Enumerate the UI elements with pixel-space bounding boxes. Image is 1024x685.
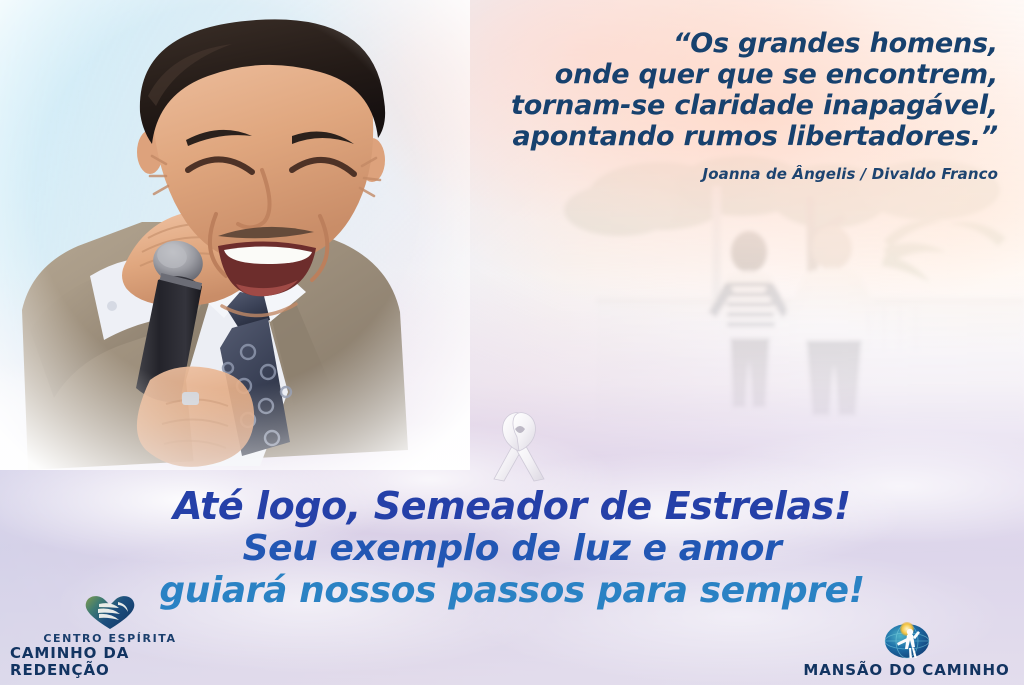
globe-figure-icon <box>880 620 934 660</box>
logo-mansao-do-caminho[interactable]: MANSÃO DO CAMINHO <box>799 620 1014 679</box>
quote-line-1: “Os grandes homens, <box>438 28 998 59</box>
quote-line-3: tornam-se claridade inapagável, <box>438 90 998 121</box>
headline-line-2: Seu exemplo de luz e amor <box>0 528 1024 570</box>
memorial-poster: “Os grandes homens, onde quer que se enc… <box>0 0 1024 685</box>
logo-centro-espirita-line2: CAMINHO DA REDENÇÃO <box>10 645 210 679</box>
quote-block: “Os grandes homens, onde quer que se enc… <box>438 28 998 183</box>
portrait-divaldo-franco <box>0 0 470 470</box>
quote-line-4: apontando rumos libertadores.” <box>438 121 998 152</box>
heart-hands-icon <box>82 592 138 632</box>
quote-attribution: Joanna de Ângelis / Divaldo Franco <box>438 165 998 183</box>
quote-line-2: onde quer que se encontrem, <box>438 59 998 90</box>
mourning-ribbon <box>486 409 552 483</box>
logo-centro-espirita[interactable]: CENTRO ESPÍRITA CAMINHO DA REDENÇÃO <box>10 592 210 679</box>
headline-line-1: Até logo, Semeador de Estrelas! <box>0 485 1024 528</box>
logo-mansao-do-caminho-label: MANSÃO DO CAMINHO <box>803 662 1009 679</box>
